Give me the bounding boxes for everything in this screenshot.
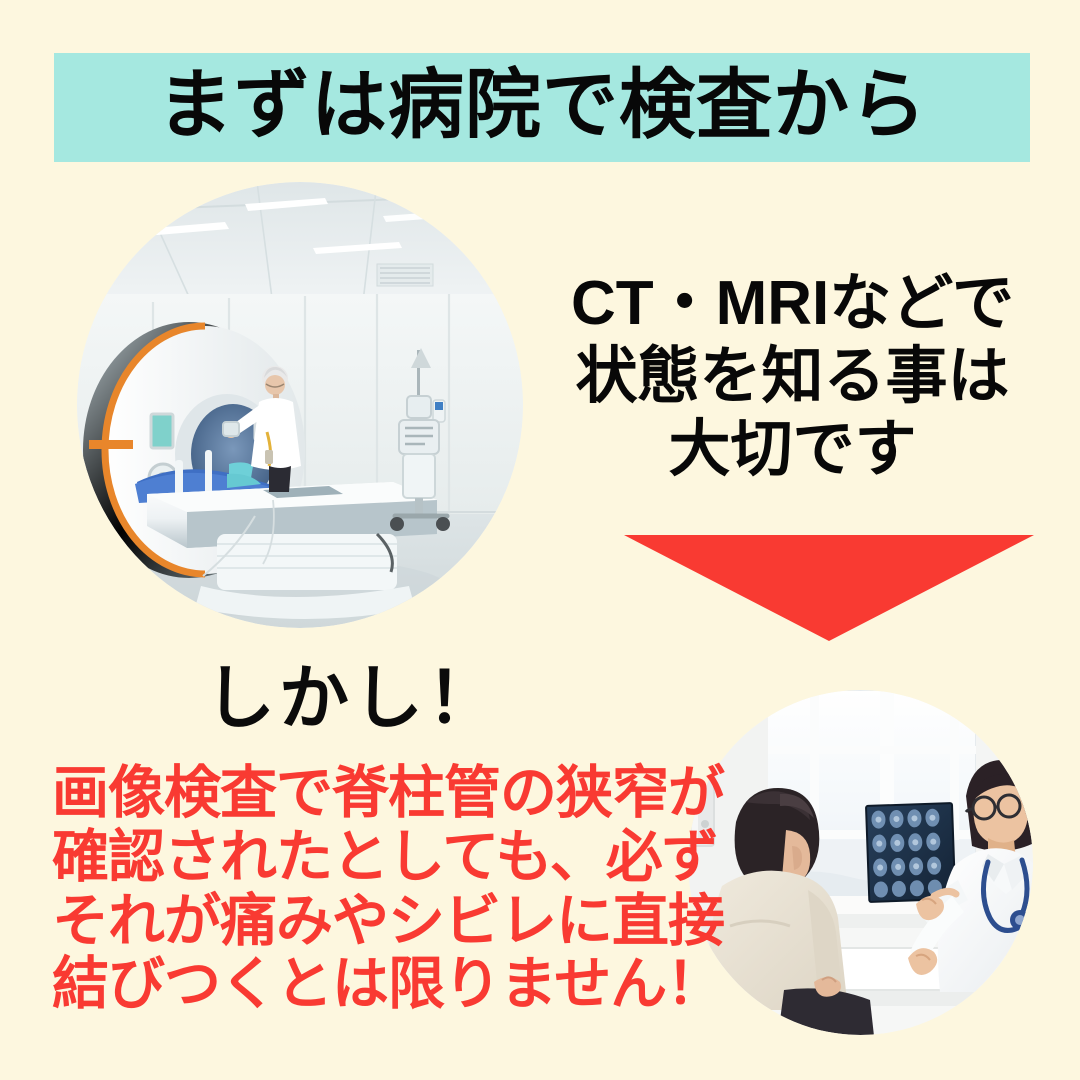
warning-line-1: 画像検査で脊柱管の狭窄が bbox=[52, 762, 682, 826]
headline-line-2: 状態を知る事は bbox=[540, 340, 1045, 413]
warning-line-2: 確認されたとしても、必ず bbox=[52, 826, 682, 890]
mri-scan-room-photo bbox=[77, 182, 523, 628]
header-banner: まずは病院で検査から bbox=[54, 53, 1030, 162]
warning-line-4: 結びつくとは限りません！ bbox=[52, 953, 682, 1017]
however-label: しかし！ bbox=[205, 663, 501, 733]
headline-text: CT・MRIなどで 状態を知る事は 大切です bbox=[540, 267, 1045, 486]
infographic-canvas: まずは病院で検査から bbox=[0, 0, 1080, 1080]
warning-line-3: それが痛みやシビレに直接 bbox=[52, 890, 682, 954]
down-arrow-icon bbox=[624, 535, 1034, 641]
warning-text: 画像検査で脊柱管の狭窄が 確認されたとしても、必ず それが痛みやシビレに直接 結… bbox=[52, 762, 682, 1017]
doctor-patient-mri-film-photo bbox=[688, 690, 1033, 1035]
headline-line-1: CT・MRIなどで bbox=[540, 267, 1045, 340]
headline-line-3: 大切です bbox=[540, 413, 1045, 486]
page-title: まずは病院で検査から bbox=[157, 68, 927, 144]
